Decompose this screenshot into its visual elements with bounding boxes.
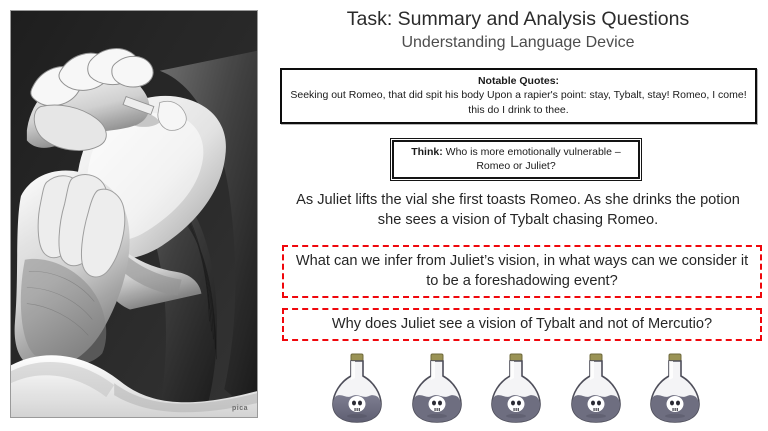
- illustration-frame: pica: [10, 10, 258, 418]
- poison-bottle-icon: [644, 352, 706, 426]
- poison-bottle-icon: [485, 352, 547, 426]
- content-column: Task: Summary and Analysis Questions Und…: [268, 0, 768, 431]
- poison-bottle-icon: [485, 352, 547, 426]
- think-question: Who is more emotionally vulnerable – Rom…: [446, 146, 621, 172]
- notable-quotes-box: Notable Quotes: Seeking out Romeo, that …: [280, 68, 757, 124]
- think-label: Think:: [411, 146, 443, 158]
- notable-quotes-text: Seeking out Romeo, that did spit his bod…: [290, 88, 747, 117]
- poison-bottle-icon: [406, 352, 468, 426]
- discussion-question-2: Why does Juliet see a vision of Tybalt a…: [282, 308, 762, 341]
- artist-signature: pica: [232, 405, 248, 412]
- poison-bottle-icon: [406, 352, 468, 426]
- notable-quotes-heading: Notable Quotes:: [290, 74, 747, 88]
- poison-bottle-icon: [565, 352, 627, 426]
- page-title: Task: Summary and Analysis Questions: [268, 7, 768, 32]
- page-subtitle: Understanding Language Device: [268, 32, 768, 53]
- think-prompt-text: Think: Who is more emotionally vulnerabl…: [400, 145, 632, 173]
- title-block: Task: Summary and Analysis Questions Und…: [268, 7, 768, 53]
- poison-bottle-icon: [326, 352, 388, 426]
- slide-canvas: pica Task: Summary and Analysis Question…: [0, 0, 768, 431]
- discussion-question-1: What can we infer from Juliet’s vision, …: [282, 245, 762, 298]
- narrative-paragraph: As Juliet lifts the vial she first toast…: [284, 190, 752, 230]
- pencil-drawing-juliet-drinking-potion: [11, 11, 257, 417]
- poison-bottle-icon: [326, 352, 388, 426]
- think-prompt-box: Think: Who is more emotionally vulnerabl…: [392, 140, 640, 179]
- poison-bottle-icon: [644, 352, 706, 426]
- poison-bottle-row: [326, 352, 706, 426]
- poison-bottle-icon: [565, 352, 627, 426]
